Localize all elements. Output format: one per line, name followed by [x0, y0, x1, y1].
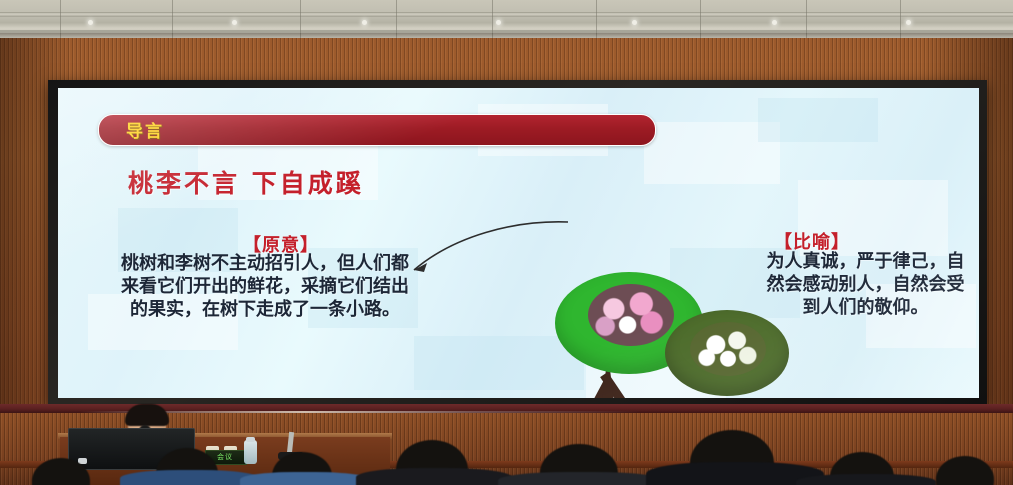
track-light: [632, 20, 637, 25]
plum-blossom-photo: [690, 322, 766, 376]
screenshot-stage: 导言 桃李不言 下自成蹊 【原意】 桃树和李树不主动招引人，但人们都来看它们开出…: [0, 0, 1013, 485]
audience-shoulders: [498, 472, 664, 485]
slide-banner: [98, 114, 656, 146]
projection-screen[interactable]: 导言 桃李不言 下自成蹊 【原意】 桃树和李树不主动招引人，但人们都来看它们开出…: [58, 88, 979, 398]
track-light: [362, 20, 367, 25]
track-light: [232, 20, 237, 25]
curved-arrow-icon: [394, 214, 574, 294]
track-light: [496, 20, 501, 25]
water-bottle: [244, 440, 257, 464]
slide-headline: 桃李不言 下自成蹊: [128, 164, 364, 200]
right-block-body: 为人真诚，严于律己，自然会感动别人，自然会受到人们的敬仰。: [758, 250, 973, 319]
track-light: [772, 20, 777, 25]
track-light: [88, 20, 93, 25]
bg-shape: [414, 336, 584, 390]
audience-shoulders: [356, 468, 512, 485]
track-light: [906, 20, 911, 25]
slide-banner-label: 导言: [126, 117, 164, 142]
audience-shoulders: [120, 470, 260, 485]
presenter-hair: [125, 404, 169, 426]
audience-shoulders: [240, 472, 370, 485]
peach-blossom-photo: [588, 284, 674, 346]
bottle-cap: [246, 437, 255, 442]
audience-shoulders: [796, 474, 936, 485]
bg-shape: [758, 98, 878, 142]
ceiling-light-rail: [0, 12, 1013, 17]
left-block-body: 桃树和李树不主动招引人，但人们都来看它们开出的鲜花，采摘它们结出的果实，在树下走…: [120, 252, 410, 321]
